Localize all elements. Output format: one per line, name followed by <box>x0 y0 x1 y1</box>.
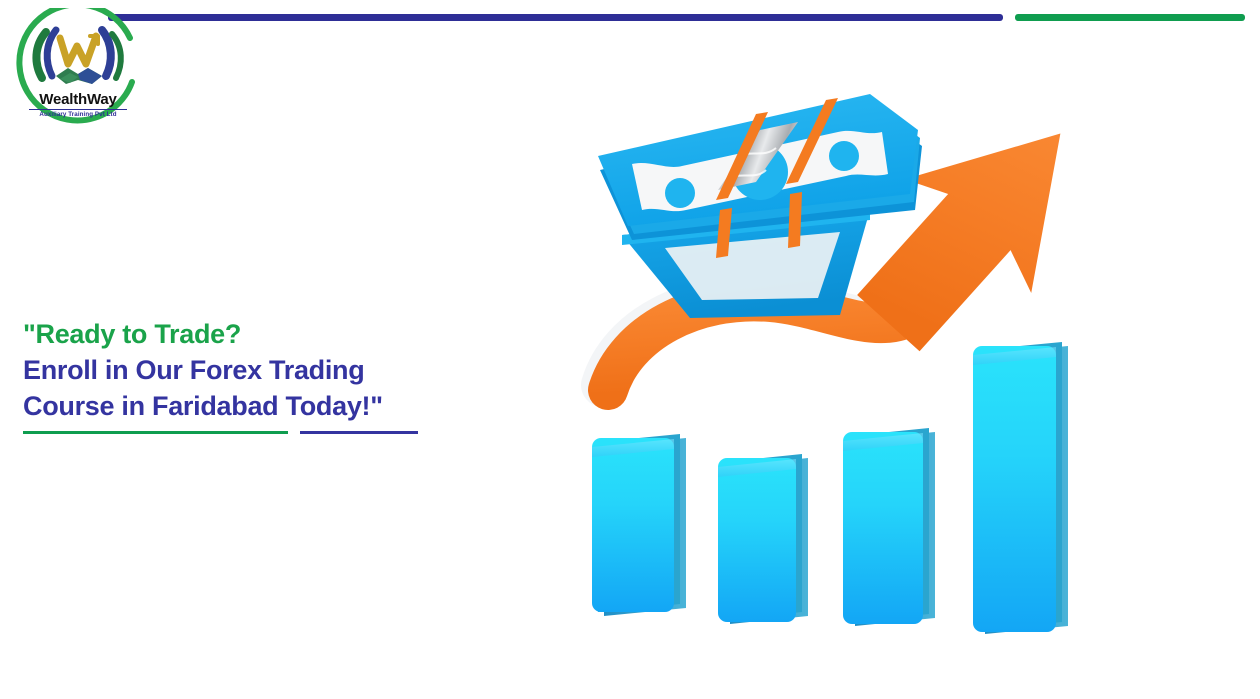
hero-illustration <box>560 60 1160 660</box>
top-green-rule <box>1015 14 1245 21</box>
brand-logo[interactable]: WealthWay Auxiliary Training Pvt Ltd <box>8 8 148 136</box>
promo-banner: WealthWay Auxiliary Training Pvt Ltd "Re… <box>0 0 1260 699</box>
logo-divider <box>29 109 127 110</box>
chart-bar-1 <box>592 434 686 616</box>
top-blue-rule <box>108 14 1003 21</box>
headline-line-2: Enroll in Our Forex Trading <box>23 352 503 388</box>
illustration-svg <box>560 60 1160 660</box>
logo-text-block: WealthWay Auxiliary Training Pvt Ltd <box>8 92 148 118</box>
headline-underlines <box>23 431 503 437</box>
chart-bar-4 <box>973 342 1068 634</box>
underline-green <box>23 431 288 434</box>
bar-chart-icon <box>592 342 1068 634</box>
headline-line-1: "Ready to Trade? <box>23 316 503 352</box>
logo-tagline: Auxiliary Training Pvt Ltd <box>8 111 148 118</box>
headline-line-3: Course in Faridabad Today!" <box>23 388 503 424</box>
underline-blue <box>300 431 418 434</box>
logo-name: WealthWay <box>8 92 148 108</box>
headline-block: "Ready to Trade? Enroll in Our Forex Tra… <box>23 316 503 424</box>
wealthway-emblem-icon <box>30 24 128 92</box>
chart-bar-2 <box>718 454 808 624</box>
chart-bar-3 <box>843 428 935 626</box>
